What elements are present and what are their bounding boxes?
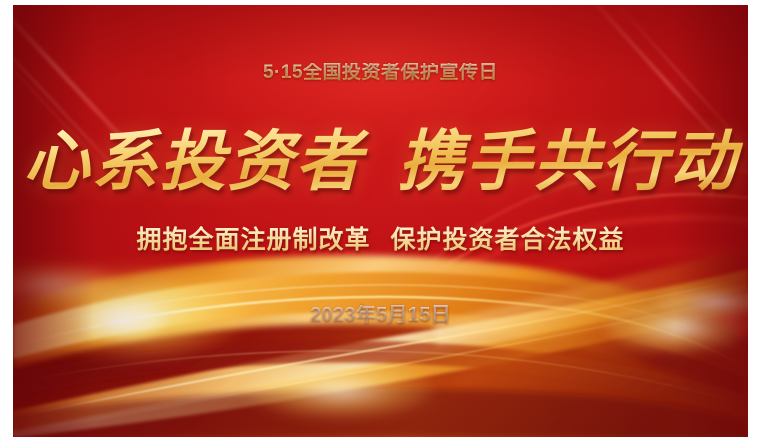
poster-root: 5·15全国投资者保护宣传日 心系投资者携手共行动 拥抱全面注册制改革保护投资者… (0, 0, 769, 437)
poster-banner: 5·15全国投资者保护宣传日 心系投资者携手共行动 拥抱全面注册制改革保护投资者… (13, 5, 748, 437)
tagline-phrase-1: 拥抱全面注册制改革 (136, 226, 370, 254)
headline-phrase-2: 携手共行动 (398, 122, 738, 200)
tagline-phrase-2: 保护投资者合法权益 (391, 226, 625, 254)
poster-tagline: 拥抱全面注册制改革保护投资者合法权益 (13, 226, 748, 255)
poster-headline: 心系投资者携手共行动 (13, 123, 748, 199)
poster-date-text: 2023年5月15日 (13, 305, 748, 325)
poster-eyebrow-text: 5·15全国投资者保护宣传日 (13, 63, 748, 82)
poster-text-content: 5·15全国投资者保护宣传日 心系投资者携手共行动 拥抱全面注册制改革保护投资者… (13, 5, 748, 437)
headline-phrase-1: 心系投资者 (24, 122, 364, 200)
